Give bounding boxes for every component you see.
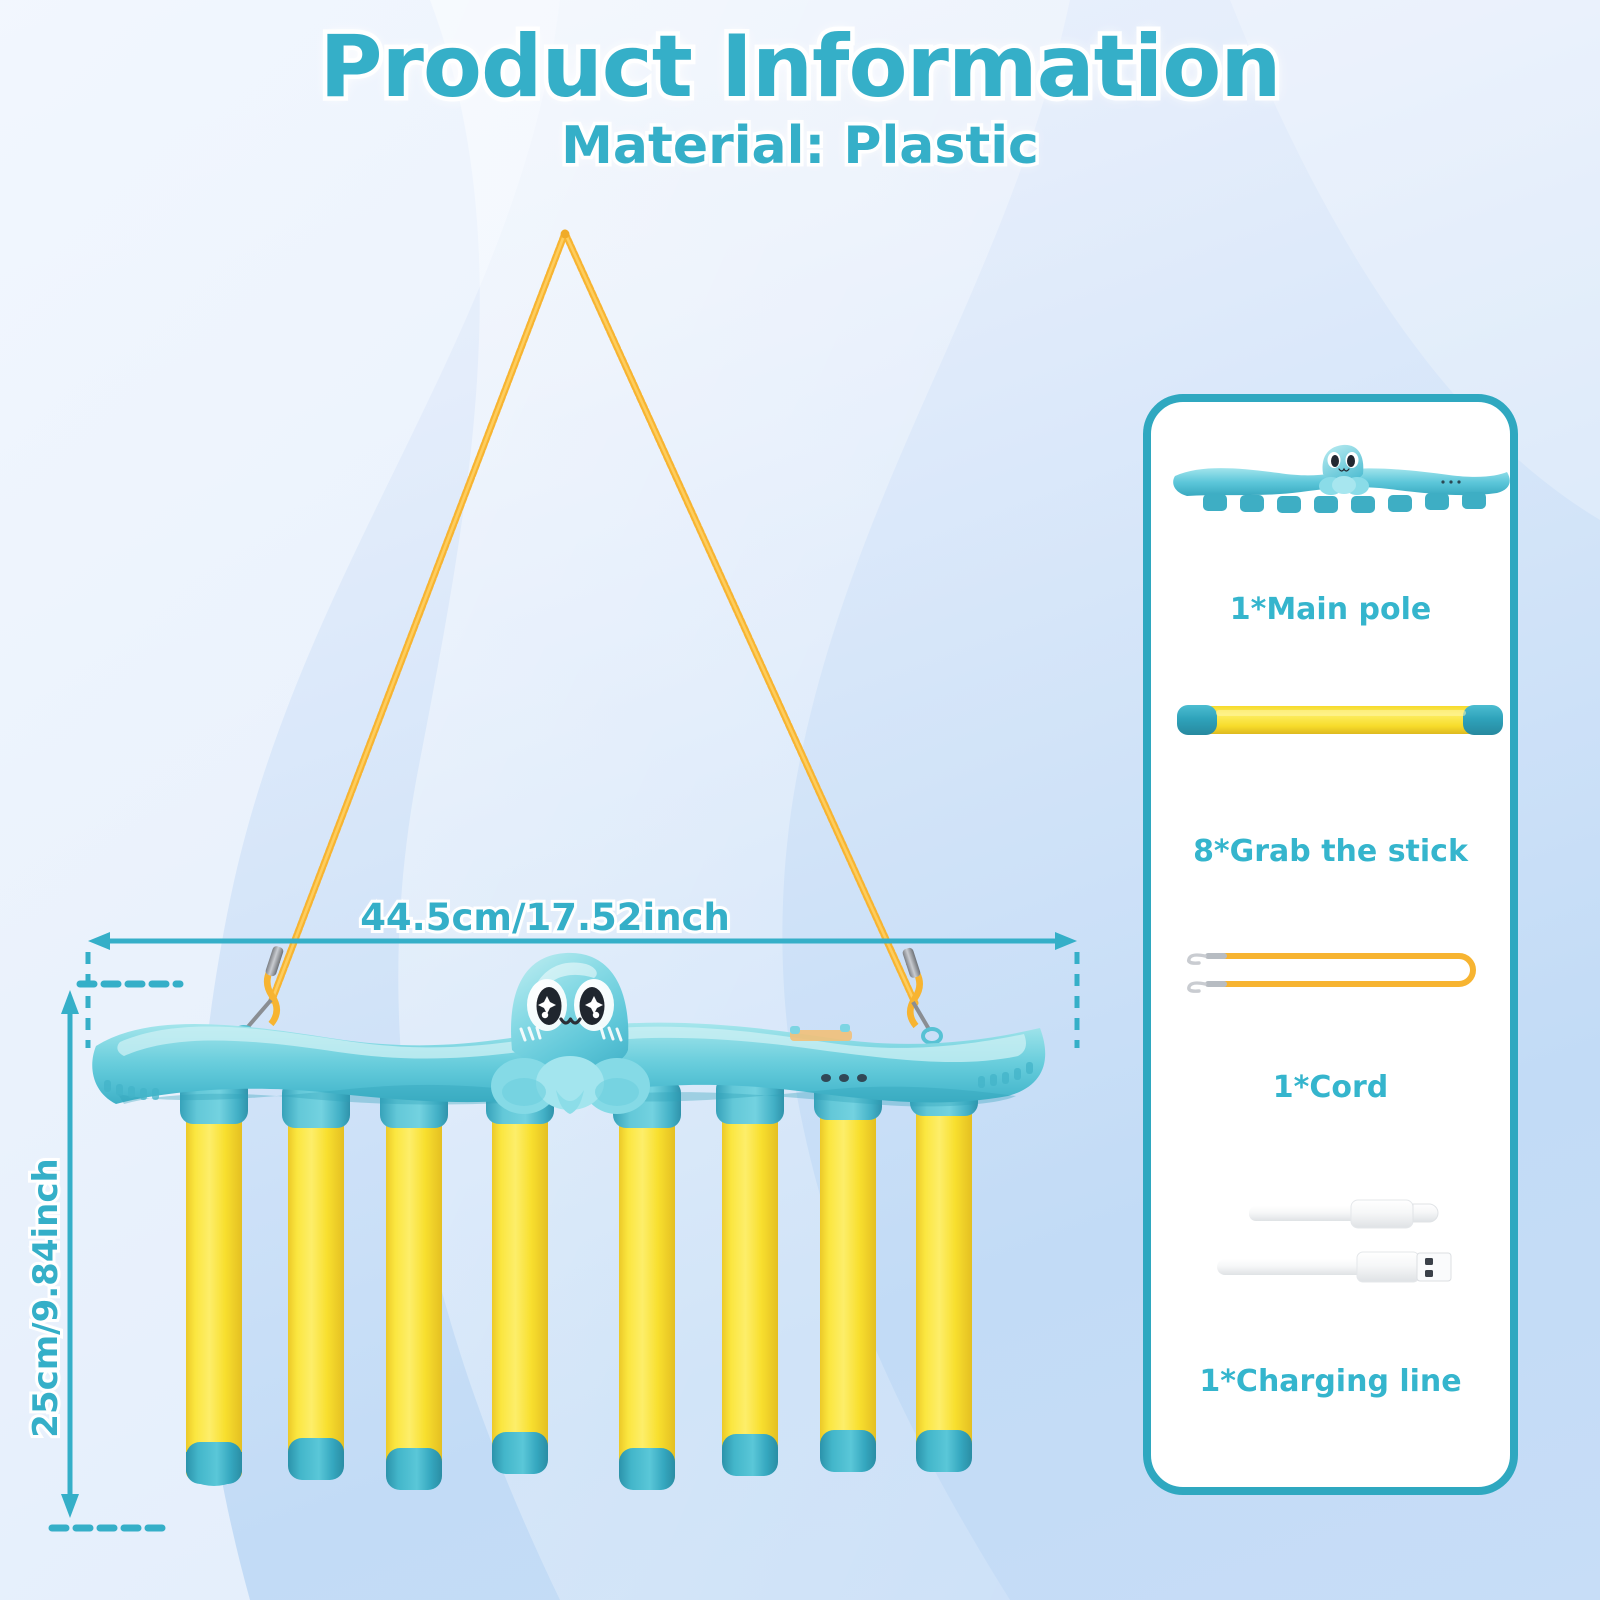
grab-stick [288, 1110, 344, 1480]
part-label-charging-line: 1*Charging line [1151, 1364, 1510, 1399]
main-pole-body [92, 1023, 1045, 1107]
grab-stick [619, 1112, 675, 1490]
parts-list-panel: 1*Main pole [1143, 394, 1518, 1495]
width-dimension-label: 44.5cm/17.52inch [0, 896, 1090, 939]
cord-clip-left [235, 945, 284, 1041]
grab-sticks-group [186, 1098, 972, 1490]
title-block: Product Information Material: Plastic [0, 22, 1600, 175]
grab-stick [820, 1102, 876, 1472]
main-pole-icon [1161, 438, 1516, 518]
product-information-page: Product Information Material: Plastic [0, 0, 1600, 1600]
octopus-head [491, 953, 650, 1114]
grab-stick [722, 1108, 778, 1476]
page-subtitle: Material: Plastic [0, 118, 1600, 175]
charging-line-icon [1169, 1182, 1509, 1317]
grab-stick [492, 1106, 548, 1474]
part-label-grab-stick: 8*Grab the stick [1151, 834, 1510, 869]
grab-stick [186, 1110, 242, 1486]
grab-stick [386, 1110, 442, 1490]
cord-icon [1169, 942, 1509, 998]
page-title: Product Information [0, 22, 1600, 112]
stick-sockets-group [180, 1068, 978, 1128]
grab-stick [916, 1098, 972, 1472]
part-label-cord: 1*Cord [1151, 1070, 1510, 1105]
part-label-main-pole: 1*Main pole [1151, 592, 1510, 627]
speaker-holes [821, 1074, 867, 1082]
cord-clip-right [902, 947, 941, 1043]
height-dimension-label: 25cm/9.84inch [26, 1148, 66, 1448]
grab-stick-icon [1171, 697, 1506, 741]
hanging-cord [272, 230, 915, 1003]
